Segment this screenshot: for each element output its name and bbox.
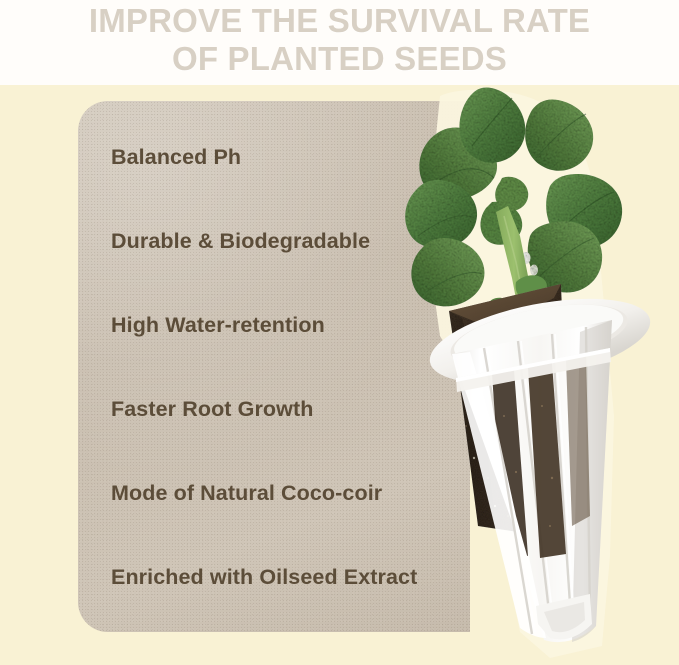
product-image-seedling-net-cup (400, 86, 679, 665)
white-net-cup (423, 283, 657, 642)
page-title: IMPROVE THE SURVIVAL RATE OF PLANTED SEE… (0, 2, 679, 78)
feature-item-durable-biodegradable: Durable & Biodegradable (111, 229, 370, 254)
poster-root: IMPROVE THE SURVIVAL RATE OF PLANTED SEE… (0, 0, 679, 665)
feature-item-natural-coco-coir: Mode of Natural Coco-coir (111, 481, 382, 506)
feature-item-water-retention: High Water-retention (111, 313, 325, 338)
feature-item-balanced-ph: Balanced Ph (111, 145, 241, 170)
header-band: IMPROVE THE SURVIVAL RATE OF PLANTED SEE… (0, 0, 679, 85)
feature-item-root-growth: Faster Root Growth (111, 397, 313, 422)
feature-item-oilseed-extract: Enriched with Oilseed Extract (111, 565, 417, 590)
